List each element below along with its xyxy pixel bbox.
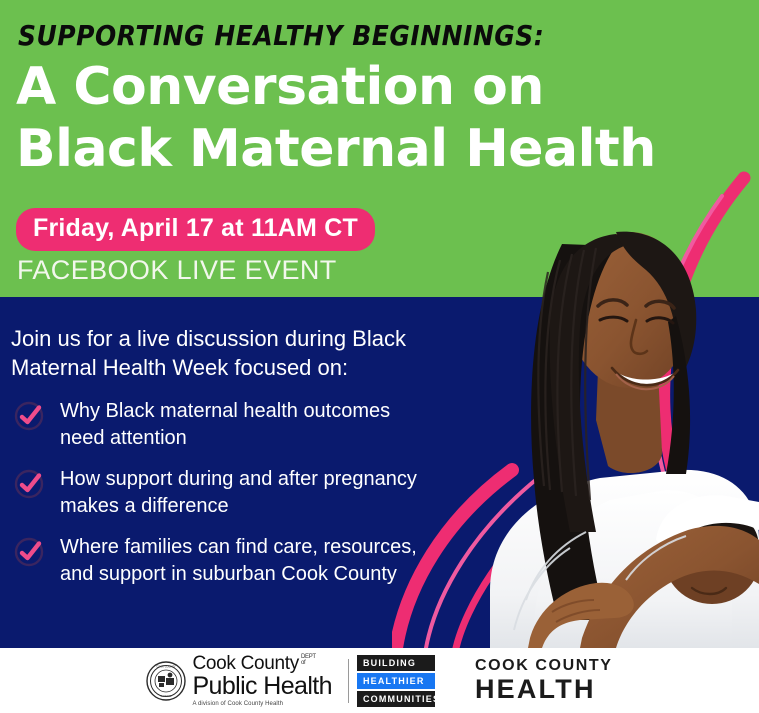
cph-line-2: Public Health <box>192 674 332 699</box>
check-circle-icon <box>14 401 44 431</box>
mother-and-baby-photo <box>430 160 759 648</box>
list-item-label: Why Black maternal health outcomes need … <box>60 398 434 452</box>
svg-text:ILLINOIS: ILLINOIS <box>161 694 172 698</box>
bhc-line-3: COMMUNITIES <box>357 691 435 707</box>
list-item: How support during and after pregnancy m… <box>14 466 434 520</box>
cph-line-1: Cook CountyDEPTof <box>192 654 332 673</box>
flyer-graphic: SUPPORTING HEALTHY BEGINNINGS: A Convers… <box>0 0 759 713</box>
date-badge: Friday, April 17 at 11AM CT <box>16 208 375 251</box>
list-item: Where families can find care, resources,… <box>14 534 434 588</box>
event-type-label: FACEBOOK LIVE EVENT <box>17 255 337 286</box>
title-line-2: Black Maternal Health <box>16 118 716 180</box>
list-item: Why Black maternal health outcomes need … <box>14 398 434 452</box>
cch-line-1: COOK COUNTY <box>475 658 613 674</box>
footer-logos: COOK COUNTY ILLINOIS Cook CountyDEPTof P… <box>0 648 759 713</box>
cook-county-health-logo: COOK COUNTY HEALTH <box>475 658 613 703</box>
check-circle-icon <box>14 469 44 499</box>
svg-text:COOK COUNTY: COOK COUNTY <box>157 664 177 668</box>
cph-tagline: A division of Cook County Health <box>192 701 332 707</box>
page-title: A Conversation on Black Maternal Health <box>16 56 716 180</box>
title-line-1: A Conversation on <box>16 57 544 117</box>
list-item-label: Where families can find care, resources,… <box>60 534 434 588</box>
bhc-line-2: HEALTHIER <box>357 673 435 689</box>
county-seal-icon: COOK COUNTY ILLINOIS <box>146 661 186 701</box>
cch-line-2: HEALTH <box>475 676 613 703</box>
logo-divider <box>348 659 349 703</box>
building-healthier-communities-badge: BUILDING HEALTHIER COMMUNITIES <box>357 655 435 707</box>
cph-wordmark: Cook CountyDEPTof Public Health A divisi… <box>192 654 332 707</box>
eyebrow-text: SUPPORTING HEALTHY BEGINNINGS: <box>18 19 544 51</box>
bhc-line-1: BUILDING <box>357 655 435 671</box>
cph-superscript: DEPTof <box>301 654 316 666</box>
list-item-label: How support during and after pregnancy m… <box>60 466 434 520</box>
bullet-list: Why Black maternal health outcomes need … <box>14 398 434 602</box>
cook-county-public-health-logo: COOK COUNTY ILLINOIS Cook CountyDEPTof P… <box>146 654 332 707</box>
check-circle-icon <box>14 537 44 567</box>
intro-paragraph: Join us for a live discussion during Bla… <box>11 324 431 382</box>
